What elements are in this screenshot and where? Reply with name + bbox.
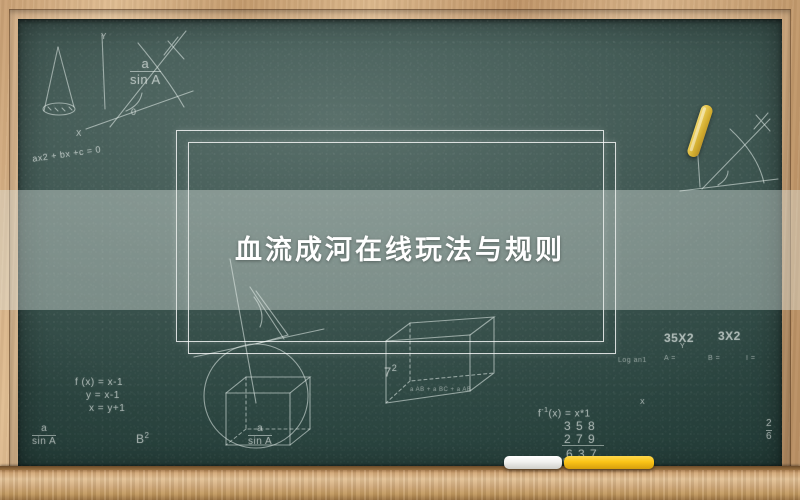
chalkboard-screenshot: a sin A Y X 0 ax2 + bx +c = 0 f (x) = x-… — [0, 0, 800, 500]
power-seven-squared: 72 — [384, 363, 397, 379]
quadratic-equation: ax2 + bx +c = 0 — [32, 144, 102, 164]
axis-label-y-topleft: Y — [101, 32, 107, 41]
function-x: x = y+1 — [89, 403, 125, 414]
power-b-squared: B2 — [136, 431, 149, 446]
yellow-chalk-stick-icon — [686, 103, 714, 158]
matrix-b: B = — [708, 355, 720, 362]
matrix-a: A = — [664, 355, 676, 362]
yellow-chalk-piece-icon — [564, 456, 654, 469]
axis-label-x-right: X — [640, 399, 645, 406]
log-an: Log an1 — [618, 357, 647, 364]
fraction-a-sin-a-bottomleft: a sin A — [32, 424, 56, 447]
multiplication-35x2: 35X2 — [664, 331, 694, 345]
addition-row-1: 3 5 8 — [564, 419, 596, 433]
white-chalk-piece-icon — [504, 456, 562, 469]
cone-diagram — [43, 47, 75, 115]
fraction-a-sin-a-bottomcenter: a sin A — [248, 424, 272, 447]
fraction-a-sin-a-topleft: a sin A — [130, 57, 161, 87]
fraction-two-six: 2 6 — [766, 419, 772, 442]
angle-label-topleft: 0 — [131, 107, 137, 117]
axis-label-x-topleft: X — [76, 129, 82, 138]
axis-label-y-right: Y — [680, 343, 685, 350]
inverse-function: f-1(x) = x*1 — [538, 407, 591, 419]
angle-diagram-left — [86, 31, 193, 129]
page-title: 血流成河在线玩法与规则 — [0, 228, 800, 267]
addition-rule — [562, 445, 604, 446]
expression-ab: a AB + a BC + a AB — [410, 387, 471, 393]
cube-diagram-left — [226, 377, 310, 445]
chalk-tray-ledge — [0, 470, 800, 500]
function-fx: f (x) = x-1 — [75, 377, 123, 388]
addition-row-2: 2 7 9 — [564, 432, 596, 446]
multiplication-3x2: 3X2 — [718, 329, 741, 343]
matrix-c: I = — [746, 355, 755, 362]
function-y: y = x-1 — [86, 390, 120, 401]
